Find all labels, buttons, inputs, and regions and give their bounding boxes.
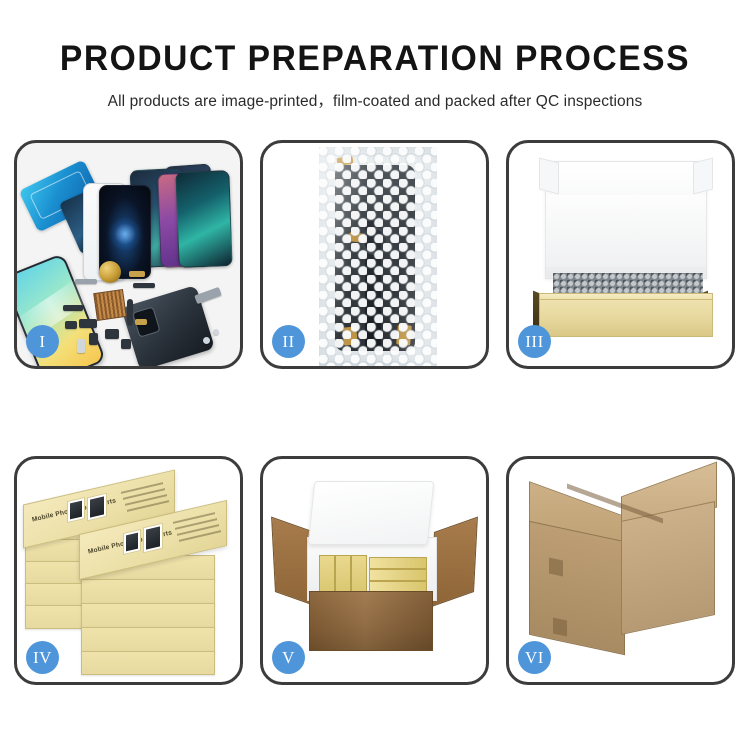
stacked-box: [81, 651, 215, 675]
step-panel-6: VI: [506, 456, 735, 685]
carton-flap-right: [430, 517, 478, 608]
spare-part: [79, 319, 97, 328]
spare-part: [89, 333, 98, 345]
product-preparation-infographic: PRODUCT PREPARATION PROCESS All products…: [0, 0, 750, 750]
box-window: [87, 493, 107, 522]
spare-part: [121, 339, 131, 349]
box-window: [143, 523, 163, 554]
stacked-box: [81, 603, 215, 629]
yellow-box: [369, 569, 427, 581]
carton-front-face: [529, 521, 625, 655]
circuit-board-chip: [93, 289, 127, 321]
step-badge-5: V: [272, 641, 305, 674]
spare-part: [135, 319, 147, 325]
step-panel-1: I: [14, 140, 243, 369]
spare-part: [203, 337, 210, 344]
carton-body: [309, 591, 433, 651]
phone-green: [175, 170, 232, 268]
spare-part: [129, 271, 145, 277]
page-subtitle: All products are image-printed，film-coat…: [0, 89, 750, 111]
tape-seal: [553, 618, 567, 637]
spare-part: [127, 299, 133, 325]
foam-insert-lid: [308, 481, 435, 545]
step-badge-2: II: [272, 325, 305, 358]
tape-seal: [549, 558, 563, 577]
plastic-sheen: [319, 147, 437, 366]
step-badge-6: VI: [518, 641, 551, 674]
spare-part: [65, 321, 77, 329]
spare-part: [75, 279, 97, 284]
foam-inner-wall: [545, 195, 707, 267]
step-panel-4: Mobile Phone Spare Parts Mobile Phone Sp…: [14, 456, 243, 685]
step-panel-2: II: [260, 140, 489, 369]
speaker-module: [99, 261, 121, 283]
spare-part: [133, 283, 155, 288]
stacked-box: [81, 627, 215, 653]
carton-side-face: [621, 501, 715, 635]
spare-part: [194, 287, 222, 304]
box-window: [123, 529, 141, 555]
step-badge-1: I: [26, 325, 59, 358]
spare-part: [105, 329, 119, 339]
kraft-box-front: [539, 299, 713, 337]
process-steps-grid: I II: [14, 140, 736, 685]
step-panel-3: III: [506, 140, 735, 369]
spare-part: [213, 329, 219, 335]
stacked-box: [81, 579, 215, 605]
header: PRODUCT PREPARATION PROCESS All products…: [0, 38, 750, 111]
step-badge-4: IV: [26, 641, 59, 674]
spare-part: [63, 305, 83, 311]
step-panel-5: V: [260, 456, 489, 685]
spare-part: [77, 339, 85, 353]
page-title: PRODUCT PREPARATION PROCESS: [15, 38, 735, 80]
box-window: [67, 497, 85, 523]
yellow-box: [369, 557, 427, 569]
step-badge-3: III: [518, 325, 551, 358]
bubble-wrap-package: [319, 147, 437, 366]
